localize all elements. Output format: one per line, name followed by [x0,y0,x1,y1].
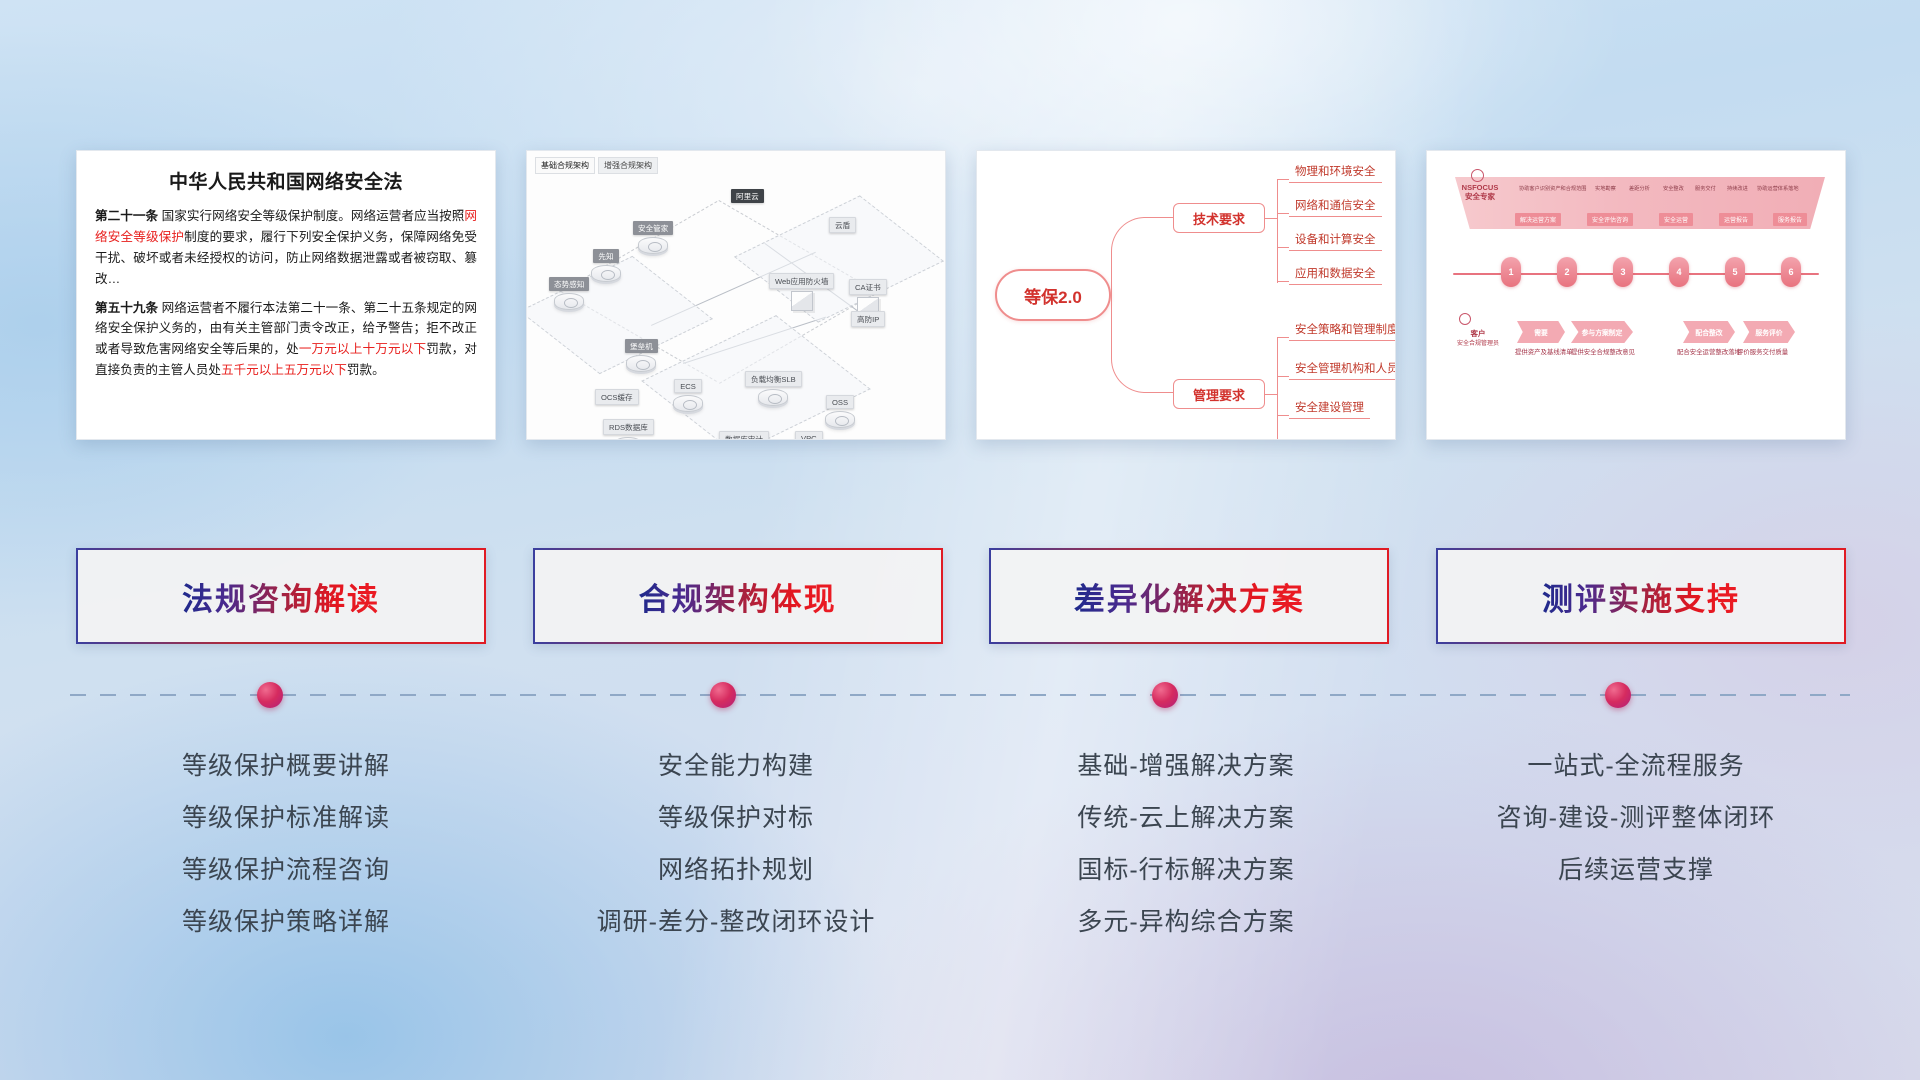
roadmap-step-4: 4 [1669,257,1689,287]
banner-item-3: 安全整改 [1663,185,1684,192]
roadmap-step-1: 1 [1501,257,1521,287]
bottom-note-1: 提供安全合规整改意见 [1571,349,1635,357]
banner-item-5: 持续改进 [1727,185,1748,192]
puck-icon [591,265,621,282]
banner-item-0: 协助客户识别资产和合规范围 [1519,185,1586,192]
list-item: 多元-异构综合方案 [1077,902,1294,938]
mindmap-tick-m3 [1277,415,1289,416]
article-59-text-3: 罚款。 [347,363,385,377]
bottom-tag-0: 需要 [1517,321,1565,343]
customer-role: 客户 [1471,329,1486,338]
tab-enhanced-compliance-architecture[interactable]: 增强合规架构 [598,157,658,174]
article-59-label: 第五十九条 [95,301,158,315]
mindmap-link-bottom [1111,295,1173,393]
node-database-audit: 数据库审计 [719,431,769,440]
article-59-highlight-2: 五千元以上五万元以下 [221,363,347,377]
law-article-21: 第二十一条 国家实行网络安全等级保护制度。网络运营者应当按照网络安全等级保护制度… [95,206,477,290]
mindmap-leaf-construction-mgmt: 安全建设管理 [1289,399,1370,419]
list-item: 传统-云上解决方案 [1077,798,1294,834]
list-item: 安全能力构建 [658,746,814,782]
list-item: 咨询-建设-测评整体闭环 [1497,798,1776,834]
mindmap-stub-technical [1265,218,1277,219]
node-vpc: VPC [795,431,823,440]
iso-plate-edge [734,195,944,322]
section-items-regulation-consulting: 等级保护概要讲解 等级保护标准解读 等级保护流程咨询 等级保护策略详解 [76,740,496,1000]
node-cloud-shield: 云盾 [829,217,856,233]
section-items-compliance-architecture: 安全能力构建 等级保护对标 网络拓扑规划 调研-差分-整改闭环设计 [526,740,946,1000]
phase-tag-4: 服务报告 [1773,213,1807,226]
law-article-59: 第五十九条 网络运营者不履行本法第二十一条、第二十五条规定的网络安全保护义务的，… [95,298,477,382]
mindmap-leaf-ops-mgmt: 安全运维管理 [1289,437,1370,440]
node-situation-awareness: 态势感知 [549,277,589,310]
law-card-title: 中华人民共和国网络安全法 [95,167,477,194]
architecture-canvas: 阿里云 安全管家 先知 态势感知 堡垒机 [533,173,939,433]
mindmap-link-top [1111,217,1173,297]
mindmap-tick-t1 [1277,179,1289,180]
mindmap-leaf-policy-system: 安全策略和管理制度 [1289,321,1396,341]
banner-item-2: 差距分析 [1629,185,1650,192]
timeline-dot-4 [1605,682,1631,708]
article-59-highlight-1: 一万元以上十万元以下 [299,342,426,356]
bottom-note-0: 提供资产及基线清单 [1515,349,1573,357]
node-bastion-host: 堡垒机 [625,339,658,372]
list-item: 等级保护概要讲解 [182,746,390,782]
node-slb: 负载均衡SLB [745,371,802,406]
node-waf: Web应用防火墙 [769,273,834,311]
node-ocs-cache: OCS缓存 [595,389,639,405]
mindmap-leaf-org-personnel: 安全管理机构和人员 [1289,360,1396,380]
section-title-text: 差异化解决方案 [1074,574,1305,619]
puck-icon [626,355,656,372]
section-title-text: 测评实施支持 [1542,574,1740,619]
slide-stage: 中华人民共和国网络安全法 第二十一条 国家实行网络安全等级保护制度。网络运营者应… [0,0,1920,1080]
puck-icon [554,293,584,310]
banner-item-6: 协助运营体系落地 [1757,185,1799,192]
list-item: 等级保护对标 [658,798,814,834]
section-title-text: 法规咨询解读 [182,574,380,619]
bottom-tag-2: 配合整改 [1683,321,1735,343]
roadmap-step-5: 5 [1725,257,1745,287]
card-dengbao-mindmap: 等保2.0 技术要求 管理要求 物理和环境安全 网络和通信安全 设备和计算安全 … [976,150,1396,440]
mindmap-branch-management: 管理要求 [1173,379,1265,409]
architecture-tab-bar: 基础合规架构 增强合规架构 [535,157,658,174]
mindmap-tick-m1 [1277,337,1289,338]
list-item: 等级保护标准解读 [182,798,390,834]
node-xianzhi: 先知 [591,249,621,282]
article-21-label: 第二十一条 [95,209,158,223]
puck-icon [758,389,788,406]
tab-basic-compliance-architecture[interactable]: 基础合规架构 [535,157,595,174]
timeline-rail [70,694,1850,696]
customer-avatar-icon [1459,313,1471,325]
section-title-box-compliance-architecture[interactable]: 合规架构体现 [533,548,943,644]
mindmap-tick-m2 [1277,376,1289,377]
brand-name: NSFOCUS [1462,183,1499,192]
roadmap-brand-label: NSFOCUS 安全专家 [1451,183,1509,202]
mindmap-tick-t2 [1277,213,1289,214]
node-oss: OSS [825,395,855,428]
section-items-assessment-support: 一站式-全流程服务 咨询-建设-测评整体闭环 后续运营支撑 [1426,740,1846,1000]
section-title-box-assessment-support[interactable]: 测评实施支持 [1436,548,1846,644]
section-titles-row: 法规咨询解读 合规架构体现 差异化解决方案 测评实施支持 [76,548,1846,648]
phase-tag-0: 解决运营方案 [1515,213,1561,226]
banner-item-1: 实地勘察 [1595,185,1616,192]
list-item: 调研-差分-整改闭环设计 [597,902,876,938]
section-title-text: 合规架构体现 [639,574,837,619]
section-title-box-regulation-consulting[interactable]: 法规咨询解读 [76,548,486,644]
list-item: 网络拓扑规划 [658,850,814,886]
node-anti-ddos: 高防IP [851,311,885,327]
customer-subtitle: 安全合规管理员 [1457,341,1499,347]
list-item: 基础-增强解决方案 [1077,746,1294,782]
card-cybersecurity-law: 中华人民共和国网络安全法 第二十一条 国家实行网络安全等级保护制度。网络运营者应… [76,150,496,440]
roadmap-inner: NSFOCUS 安全专家 协助客户识别资产和合规范围 实地勘察 差距分析 安全整… [1437,161,1835,429]
timeline-dot-2 [710,682,736,708]
list-item: 一站式-全流程服务 [1527,746,1744,782]
timeline-dot-1 [257,682,283,708]
article-21-text-1: 国家实行网络安全等级保护制度。网络运营者应当按照 [158,209,464,223]
bottom-tag-3: 服务评价 [1743,321,1795,343]
bottom-tag-1: 参与方案制定 [1571,321,1633,343]
bottom-note-3: 评价服务交付质量 [1737,349,1788,357]
mindmap-tick-t3 [1277,247,1289,248]
box-icon [791,291,813,311]
list-item: 等级保护流程咨询 [182,850,390,886]
roadmap-step-3: 3 [1613,257,1633,287]
card-cloud-architecture: 基础合规架构 增强合规架构 阿里云 安全管家 [526,150,946,440]
card-service-roadmap: NSFOCUS 安全专家 协助客户识别资产和合规范围 实地勘察 差距分析 安全整… [1426,150,1846,440]
mindmap-root-node: 等保2.0 [995,269,1111,321]
reference-cards-row: 中华人民共和国网络安全法 第二十一条 国家实行网络安全等级保护制度。网络运营者应… [76,150,1846,440]
banner-item-4: 服务交付 [1695,185,1716,192]
roadmap-step-6: 6 [1781,257,1801,287]
phase-tag-1: 安全评估咨询 [1587,213,1633,226]
mindmap-spine-technical [1277,179,1278,283]
list-item: 后续运营支撑 [1558,850,1714,886]
bottom-note-2: 配合安全运营整改落地 [1677,349,1741,357]
mindmap-tick-t4 [1277,281,1289,282]
mindmap-branch-technical: 技术要求 [1173,203,1265,233]
node-security-butler: 安全管家 [633,221,673,254]
node-rds: RDS数据库 [603,419,654,440]
mindmap-leaf-physical-env: 物理和环境安全 [1289,163,1382,183]
list-item: 国标-行标解决方案 [1077,850,1294,886]
section-title-box-differentiated-solutions[interactable]: 差异化解决方案 [989,548,1389,644]
puck-icon [673,395,703,412]
phase-tag-2: 安全运营 [1659,213,1693,226]
puck-icon [825,411,855,428]
node-aliyun: 阿里云 [731,189,764,203]
expert-avatar-icon [1471,169,1484,182]
section-items-row: 等级保护概要讲解 等级保护标准解读 等级保护流程咨询 等级保护策略详解 安全能力… [76,740,1846,1000]
node-ecs: ECS [673,379,703,412]
mindmap-stub-management [1265,394,1277,395]
roadmap-step-2: 2 [1557,257,1577,287]
mindmap-leaf-network-comm: 网络和通信安全 [1289,197,1382,217]
list-item: 等级保护策略详解 [182,902,390,938]
puck-icon [638,237,668,254]
phase-tag-3: 运营报告 [1719,213,1753,226]
timeline-dot-3 [1152,682,1178,708]
puck-icon [613,437,643,440]
brand-subtitle: 安全专家 [1465,192,1495,201]
section-items-differentiated-solutions: 基础-增强解决方案 传统-云上解决方案 国标-行标解决方案 多元-异构综合方案 [976,740,1396,1000]
mindmap-leaf-device-compute: 设备和计算安全 [1289,231,1382,251]
mindmap-spine-management [1277,337,1278,440]
mindmap-leaf-app-data: 应用和数据安全 [1289,265,1382,285]
roadmap-customer-label: 客户 安全合规管理员 [1447,329,1509,349]
